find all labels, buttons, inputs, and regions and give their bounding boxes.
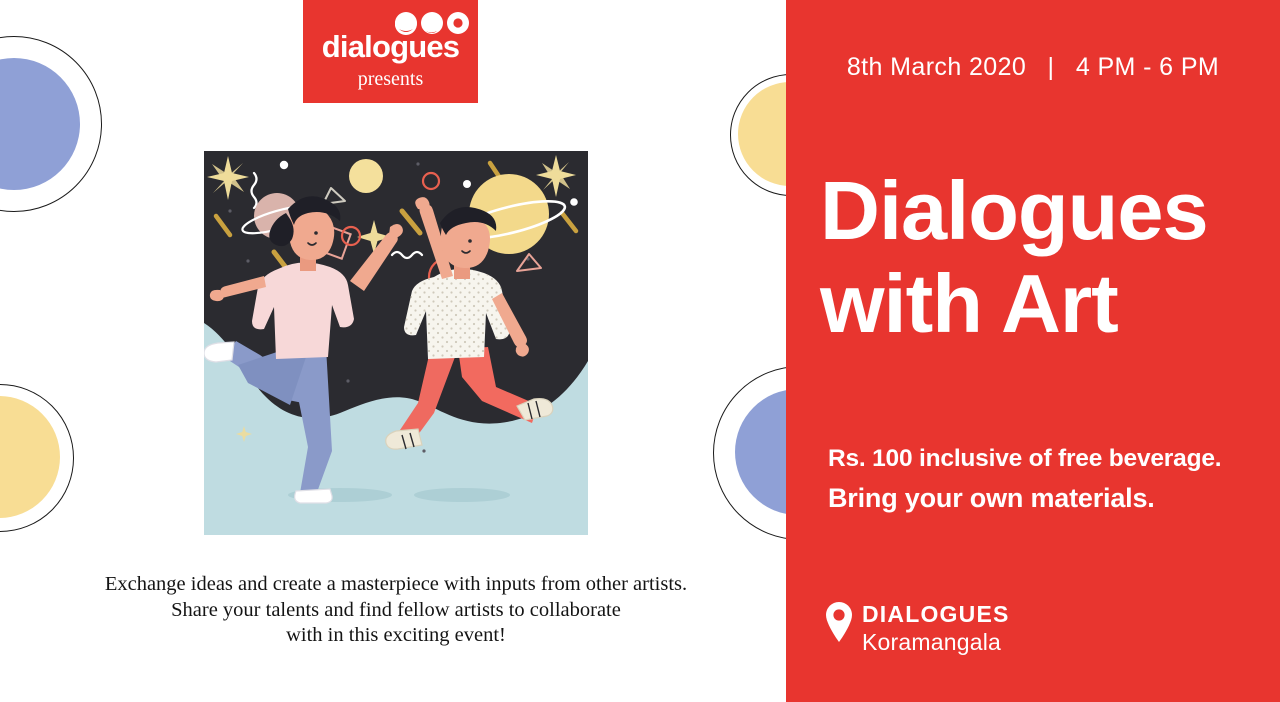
event-poster: dialogues presents Exchange ideas and cr…: [0, 0, 1280, 702]
description-line-3: with in this exciting event!: [40, 623, 752, 649]
logo-tagline: presents: [303, 68, 478, 91]
event-datetime: 8th March 2020 | 4 PM - 6 PM: [786, 53, 1280, 82]
event-description: Exchange ideas and create a masterpiece …: [40, 572, 752, 649]
event-venue: DIALOGUES Koramangala: [826, 600, 1010, 656]
event-illustration: [204, 151, 588, 535]
description-line-1: Exchange ideas and create a masterpiece …: [40, 572, 752, 598]
datetime-separator: |: [1034, 53, 1069, 82]
materials-line: Bring your own materials.: [828, 481, 1260, 516]
price-line: Rs. 100 inclusive of free beverage.: [828, 443, 1260, 475]
event-pricing: Rs. 100 inclusive of free beverage. Brin…: [828, 443, 1260, 516]
event-details-panel: 8th March 2020 | 4 PM - 6 PM Dialogues w…: [786, 0, 1280, 702]
event-time: 4 PM - 6 PM: [1076, 53, 1219, 81]
venue-area: Koramangala: [862, 628, 1010, 656]
event-title-line-2: with Art: [820, 258, 1260, 351]
event-title: Dialogues with Art: [820, 165, 1260, 351]
brand-logo-block: dialogues presents: [303, 0, 478, 103]
map-pin-icon: [826, 602, 852, 642]
event-date: 8th March 2020: [847, 53, 1026, 81]
decorative-ring-top-left: [0, 36, 102, 212]
venue-name: DIALOGUES: [862, 600, 1010, 628]
decorative-ring-bottom-left: [0, 384, 74, 532]
event-title-line-1: Dialogues: [820, 165, 1260, 258]
logo-wordmark: dialogues: [303, 29, 478, 65]
description-line-2: Share your talents and find fellow artis…: [40, 598, 752, 624]
venue-text-block: DIALOGUES Koramangala: [862, 600, 1010, 656]
